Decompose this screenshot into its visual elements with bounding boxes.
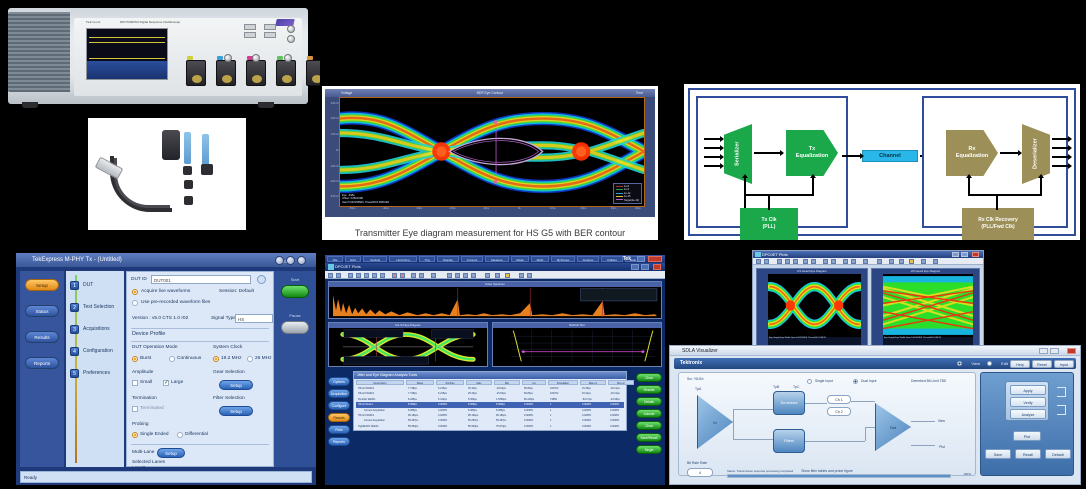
eye-diagram-canvas [340, 98, 644, 206]
menu-measure[interactable]: Measure [485, 256, 509, 262]
col-mean: Mean [406, 380, 434, 385]
eye-ytick-1: 200mV [331, 117, 339, 120]
scope-display [86, 28, 168, 80]
right-button-clear[interactable]: Clear [636, 373, 662, 382]
probing-diff-label: Differential [185, 432, 208, 437]
eye-xtick-2: -30ps [416, 207, 423, 210]
default-button[interactable]: Default [1045, 449, 1071, 459]
block-diagram-frame: Serializer Tx Equalization Tx Clk (PLL) … [688, 88, 1076, 236]
mode-burst-label: Burst [140, 356, 151, 361]
eye-pair-app-icon [755, 252, 761, 257]
eye-diagram-small-canvas [329, 323, 487, 366]
right-button-autoset[interactable]: Autoset [636, 409, 662, 418]
eye-diagram-figure: Voltage BER Eye Contour Time [322, 86, 658, 240]
terminated-check[interactable] [132, 406, 138, 412]
side-button-plots[interactable]: Plots [328, 425, 350, 434]
serdes-block-diagram: Serializer Tx Equalization Tx Clk (PLL) … [684, 84, 1080, 240]
apply-button[interactable]: Apply [1010, 385, 1046, 395]
sdla-diagram-canvas: Src: Y8J1b Single Input Dual Input Deemb… [678, 372, 976, 476]
source-label: Src: Y8J1b [687, 377, 704, 381]
right-button-clear2[interactable]: Clear [636, 421, 662, 430]
scope-minimize-button[interactable] [637, 256, 645, 262]
eye-plot-gear3-canvas [768, 274, 861, 337]
transmitter-group: Serializer Tx Equalization Tx Clk (PLL) [696, 96, 848, 228]
eye-xtick-9: 40ps [635, 207, 641, 210]
version-label: Version : v5.0 CTS 1.0 r02 [132, 316, 188, 321]
scope-brand-label: Tektronix [86, 20, 101, 24]
eye-x-axis-label: Time [636, 89, 643, 97]
eye-ytick-2: 100mV [331, 133, 339, 136]
scope-front-panel: Tektronix DPO70000SX Digital Response Os… [74, 18, 302, 96]
eye-pair-window: DPOJET Plots HS Gear3 Eye Diagram [752, 250, 984, 350]
session-label: Session: Default [219, 289, 254, 294]
probe-accessory-2 [201, 164, 213, 175]
eye-diagram-small-title: HS-G3 Eye Diagram [329, 323, 487, 328]
eye-xtick-8: 30ps [611, 207, 617, 210]
eye-plot-title: BER Eye Contour [477, 89, 504, 97]
reset-button[interactable]: Reset [1032, 360, 1052, 368]
scope-close-button[interactable] [648, 256, 662, 262]
step-configuration[interactable]: 4 Configuration [70, 345, 122, 358]
tekexpress-nav: Setup Status Results Reports [20, 271, 64, 467]
probe-accessory-1 [183, 166, 192, 175]
clock-26-label: 26 MHz [255, 356, 272, 361]
rx-clock-recovery-block: Rx Clk Recovery (PLL/Fwd Clk) [962, 208, 1034, 240]
acquire-live-radio[interactable] [132, 289, 138, 295]
mode-burst-radio[interactable] [132, 356, 138, 362]
multilane-label: Multi-Lane [132, 450, 154, 455]
col-stddev: Std Dev [436, 380, 464, 385]
receiver-group: Rx Equalization Deserializer Rx Clk Reco… [922, 96, 1068, 228]
recall-button[interactable]: Recall [1015, 449, 1041, 459]
progress-percent: 100% [963, 472, 971, 476]
eye-xtick-1: -40ps [382, 207, 389, 210]
noise-spectrum-plot[interactable]: Noise Spectrum [328, 281, 662, 319]
right-button-details[interactable]: Details [636, 397, 662, 406]
tpa-label-left: TpA [695, 387, 701, 391]
dut-id-input[interactable]: DUT001 [151, 275, 251, 284]
tekexpress-titlebar: TekExpress M-PHY Tx - (Untitled) Options [16, 253, 316, 267]
gear-selection-label: Gear Selection [213, 370, 245, 375]
nav-status[interactable]: Status [25, 305, 59, 317]
col-max: Max [466, 380, 492, 385]
device-profile-heading: Device Profile [132, 331, 165, 337]
menu-file[interactable]: File [327, 256, 343, 262]
figure-caption: Transmitter Eye diagram measurement for … [322, 228, 658, 238]
legend-entry-4: Target(1e-12) [616, 199, 639, 202]
collapse-icon-bottom[interactable] [1057, 405, 1066, 415]
probe-tip-b [202, 134, 209, 166]
gear-setup-button[interactable]: Setup [219, 380, 253, 390]
progress-bar [727, 474, 951, 478]
col-population: Population [548, 380, 578, 385]
edit-radio-label: Edit [1001, 358, 1008, 369]
selected-lanes-label: Selected Lanes [132, 460, 165, 465]
sdla-title-text: SDLA Visualizer [682, 348, 718, 354]
view-radio-label: View [971, 358, 980, 369]
dut-id-label: DUT ID [131, 277, 147, 282]
use-prerecorded-radio[interactable] [132, 300, 138, 306]
filter-setup-button[interactable]: Setup [219, 406, 253, 416]
eye-info-line-2: Gain:5.6301586E5, Tbase5001.56801E5 [342, 201, 389, 204]
probe-photo [88, 118, 246, 230]
dpojet-plot-area: Noise Spectrum HS-G3 Eye Diagram [328, 281, 662, 367]
channel-block: Channel [862, 150, 918, 162]
scope-menubar: File Edit Vertical Horiz/Acq Trig Displa… [325, 255, 665, 263]
probe-accessory-4 [184, 196, 193, 205]
amplitude-small-check[interactable] [132, 380, 138, 386]
ch1-select[interactable]: Ch 1 [827, 395, 851, 404]
dpojet-toolbar [325, 271, 665, 279]
amplitude-label: Amplitude [132, 370, 153, 375]
scope-chassis: Tektronix DPO70000SX Digital Response Os… [8, 8, 308, 104]
deserializer-block: Deserializer [1022, 124, 1050, 184]
table-row[interactable]: TightEOFF Width1 55.954ps 0.000Hz 55.954… [356, 424, 624, 429]
start-button[interactable] [281, 285, 309, 298]
eye-pair-close-button[interactable] [972, 252, 979, 257]
plots-minimize-button[interactable] [631, 264, 639, 270]
clock-19-radio[interactable] [213, 356, 219, 362]
eye-plot-gear3-info: Eye Height Eye Width Gain:0.00118601 Tba… [768, 337, 861, 345]
menu-utilities[interactable]: Utilities [601, 256, 623, 262]
termination-label: Termination [132, 396, 157, 401]
diagram-footer-label: Show filter tables and probe figure [801, 469, 852, 473]
eye-pair-titlebar: DPOJET Plots [753, 251, 983, 258]
eye-xtick-4: -10ps [483, 207, 490, 210]
sdla-brandbar: Tektronix View Edit Help Reset Input [674, 358, 1076, 369]
plot-button[interactable]: Plot [1013, 431, 1041, 441]
menu-math[interactable]: Math [531, 256, 549, 262]
side-button-acquisition[interactable]: Acquisition [328, 389, 350, 398]
use-prerecorded-label: Use pre-recorded waveform files [141, 300, 210, 305]
dut-operation-mode-label: DUT Operation Mode [132, 345, 178, 350]
tx-clock-block: Tx Clk (PLL) [740, 208, 798, 240]
sdla-titlebar: SDLA Visualizer [670, 346, 1080, 356]
minimize-button[interactable] [275, 256, 284, 265]
probing-diff-radio[interactable] [177, 432, 183, 438]
ch2-select[interactable]: Ch 2 [827, 407, 851, 416]
right-button-results[interactable]: Results [636, 385, 662, 394]
bathtub-plot[interactable]: Bathtub Plot [492, 322, 662, 367]
scope-vent-grille [8, 12, 70, 92]
terminated-label: Terminated [140, 406, 164, 411]
tekexpress-title-text: TekExpress M-PHY Tx - (Untitled) [32, 257, 122, 263]
menu-edit[interactable]: Edit [345, 256, 361, 262]
tek-logo: Tek [623, 255, 631, 263]
oscilloscope-photo: Tektronix DPO70000SX Digital Response Os… [0, 0, 320, 112]
analyze-button[interactable]: Analyze [1010, 409, 1046, 419]
dpojet-app-icon [328, 264, 334, 270]
eye-diagram-plot: 300mV 200mV 100mV 0V -100mV -200mV -300m… [339, 97, 645, 207]
nav-setup[interactable]: Setup [25, 279, 59, 291]
eye-pair-toolbar [753, 258, 983, 265]
sdla-close-button[interactable] [1067, 348, 1076, 354]
signal-type-label: Signal Type [211, 316, 236, 321]
sdla-control-panel: Apply Verify Analyze Plot Save Recall De… [980, 372, 1074, 476]
menu-analyze[interactable]: Analyze [577, 256, 599, 262]
col-min: Min [494, 380, 520, 385]
filters-stage[interactable]: Filters [773, 429, 805, 453]
step-test-selection[interactable]: 2 Test Selection [70, 301, 122, 314]
tpb-label-top: TpB [773, 385, 779, 389]
eye-xtick-5: 0s [518, 207, 521, 210]
start-label: Start [274, 277, 316, 282]
right-button-single[interactable]: Single [636, 445, 662, 454]
eye-xtick-6: 10ps [550, 207, 556, 210]
eye-plot-gear4-canvas [883, 274, 973, 337]
menu-display[interactable]: Display [437, 256, 459, 262]
eye-diagram-window: Voltage BER Eye Contour Time [325, 89, 655, 217]
acquire-live-label: Acquire live waveforms [141, 289, 190, 294]
probing-single-radio[interactable] [132, 432, 138, 438]
amplitude-large-check[interactable] [163, 380, 169, 386]
bit-rate-input[interactable]: 4 [687, 468, 713, 477]
tekexpress-steps: 1 DUT 2 Test Selection 3 Acquisitions 4 … [66, 271, 124, 467]
view-output-label: View [938, 419, 945, 423]
input-amplifier[interactable]: In [697, 395, 733, 449]
eye-plot-gear4[interactable]: HS Gear4 Eye Diagram Eye Height E [871, 268, 980, 346]
clock-19-label: 19.2 MHz [221, 356, 242, 361]
eye-ytick-4: -100mV [330, 165, 339, 168]
eye-plot-gear3[interactable]: HS Gear3 Eye Diagram Eye Height Eye Wi [756, 268, 868, 346]
menu-mask[interactable]: Mask [511, 256, 529, 262]
save-button[interactable]: Save [985, 449, 1011, 459]
tekexpress-run-controls: Start Pause [274, 271, 316, 467]
sdla-minimize-button[interactable] [1039, 348, 1048, 354]
eye-diagram-titlebar: Voltage BER Eye Contour Time [325, 89, 655, 97]
rx-equalization-block: Rx Equalization [946, 130, 998, 176]
filter-selection-label: Filter Selection [213, 396, 245, 401]
menu-trig[interactable]: Trig [419, 256, 435, 262]
pause-button[interactable] [281, 321, 309, 334]
tx-equalization-block: Tx Equalization [786, 130, 838, 176]
status-bar: Ready [20, 471, 312, 483]
eye-ytick-5: -200mV [330, 180, 339, 183]
eye-ytick-3: 0V [336, 149, 339, 152]
eye-diagram-plot-small[interactable]: HS-G3 Eye Diagram [328, 322, 488, 367]
single-input-label: Single Input [815, 379, 833, 383]
probing-single-label: Single Ended [140, 432, 169, 437]
collapse-icon-top[interactable] [1057, 387, 1066, 397]
right-button-saverecall[interactable]: Save/Recall Form [636, 433, 662, 442]
dut-id-browse-icon[interactable] [257, 275, 266, 284]
col-mincc: Min-cc [608, 380, 634, 385]
dpojet-plots-titlebar: DPOJET Plots [325, 263, 665, 271]
scope-model-label: DPO70000SX Digital Response Oscilloscope [120, 20, 180, 24]
side-button-reports[interactable]: Reports [328, 437, 350, 446]
amplitude-small-label: Small [140, 380, 152, 385]
amplitude-large-label: Large [171, 380, 183, 385]
side-button-options[interactable]: Options [328, 377, 350, 386]
edit-radio[interactable] [987, 361, 992, 366]
eye-xtick-3: -20ps [449, 207, 456, 210]
probe-accessory-3 [184, 180, 193, 189]
noise-spectrum-canvas [329, 282, 661, 318]
results-table-title: Jitter and Eye Diagram Analysis Tools [354, 372, 626, 379]
analysis-results-table: Jitter and Eye Diagram Analysis Tools De… [353, 371, 627, 431]
dpojet-scope-window: File Edit Vertical Horiz/Acq Trig Displa… [325, 255, 665, 485]
clock-26-radio[interactable] [247, 356, 253, 362]
dual-input-radio[interactable] [853, 379, 858, 384]
multilane-setup-button[interactable]: Setup [157, 448, 185, 458]
tekexpress-dut-panel: DUT ID DUT001 Acquire live waveforms Ses… [126, 271, 274, 467]
eye-pair-title-text: DPOJET Plots [762, 252, 788, 257]
menu-cursors[interactable]: Cursors [461, 256, 483, 262]
menu-myscope[interactable]: MyScope [551, 256, 575, 262]
sdla-visualizer-window: SDLA Visualizer Tektronix View Edit Help… [669, 345, 1081, 485]
bathtub-canvas [493, 323, 661, 366]
eye-ber-legend: 1e-6 1e-9 1e-12 1e-15 Target(1e-12) [613, 183, 642, 204]
dual-input-label: Dual Input [861, 379, 876, 383]
col-pp: p-p [522, 380, 546, 385]
pause-label: Pause [274, 313, 316, 318]
eye-plot-gear4-info: Eye Height Eye Width Gain:0.00118601 Tba… [883, 337, 973, 345]
mode-continuous-label: Continuous [177, 356, 201, 361]
col-maxcc: Max-cc [580, 380, 606, 385]
plots-close-button[interactable] [653, 264, 661, 270]
tektronix-brand: Tektronix [680, 358, 702, 369]
nav-reports[interactable]: Reports [25, 357, 59, 369]
tpc-label-top: TpC [793, 385, 799, 389]
tekexpress-window: TekExpress M-PHY Tx - (Untitled) Options… [16, 253, 316, 485]
eye-ytick-6: -300mV [330, 195, 339, 198]
dpojet-plots-title: DPOJET Plots [335, 264, 361, 269]
deembed-stage[interactable]: De-embed [773, 391, 805, 415]
signal-type-select[interactable]: HS [235, 314, 273, 323]
probing-label: Probing [132, 422, 149, 427]
close-button[interactable] [297, 256, 306, 265]
plots-restore-button[interactable] [641, 264, 649, 270]
bathtub-title: Bathtub Plot [493, 323, 661, 328]
eye-xtick-0: -50ps [349, 207, 356, 210]
system-clock-label: System Clock [213, 345, 242, 350]
input-button[interactable]: Input [1054, 360, 1074, 368]
plot-output-label: Plot [939, 445, 945, 449]
step-acquisitions[interactable]: 3 Acquisitions [70, 323, 122, 336]
single-input-radio[interactable] [807, 379, 812, 384]
menu-vertical[interactable]: Vertical [363, 256, 387, 262]
sdla-restore-button[interactable] [1050, 348, 1059, 354]
mode-button-group: Apply Verify Analyze [1005, 381, 1049, 421]
probe-tip-a [184, 132, 191, 164]
side-button-configure[interactable]: Configure [328, 401, 350, 410]
eye-xtick-7: 20ps [580, 207, 586, 210]
menu-horizacq[interactable]: Horiz/Acq [389, 256, 417, 262]
progress-status-label: Status: Transmission response processing… [727, 469, 793, 473]
mode-continuous-radio[interactable] [169, 356, 175, 362]
step-dut[interactable]: 1 DUT [70, 279, 122, 292]
side-button-results[interactable]: Results [328, 413, 350, 422]
noise-spectrum-title: Noise Spectrum [329, 282, 661, 287]
eye-ytick-0: 300mV [331, 102, 339, 105]
eye-y-axis-label: Voltage [341, 89, 352, 97]
eye-pair-minimize-button[interactable] [952, 252, 959, 257]
verify-button[interactable]: Verify [1010, 397, 1046, 407]
help-button[interactable]: Help [1010, 360, 1030, 368]
eye-measurement-info: Eye: -61Bs Offset: 0.68212dB Gain:5.6301… [342, 194, 389, 204]
view-radio[interactable] [957, 361, 962, 366]
eye-pair-restore-button[interactable] [961, 252, 968, 257]
col-description: Description [356, 380, 404, 385]
maximize-button[interactable] [286, 256, 295, 265]
bit-rate-label: Bit Rate Rate [687, 461, 707, 465]
step-preferences[interactable]: 5 Preferences [70, 367, 122, 380]
output-amplifier[interactable]: Out [875, 403, 911, 451]
deembed-label: Deembed Bit Limit TBD [911, 379, 946, 383]
nav-results[interactable]: Results [25, 331, 59, 343]
